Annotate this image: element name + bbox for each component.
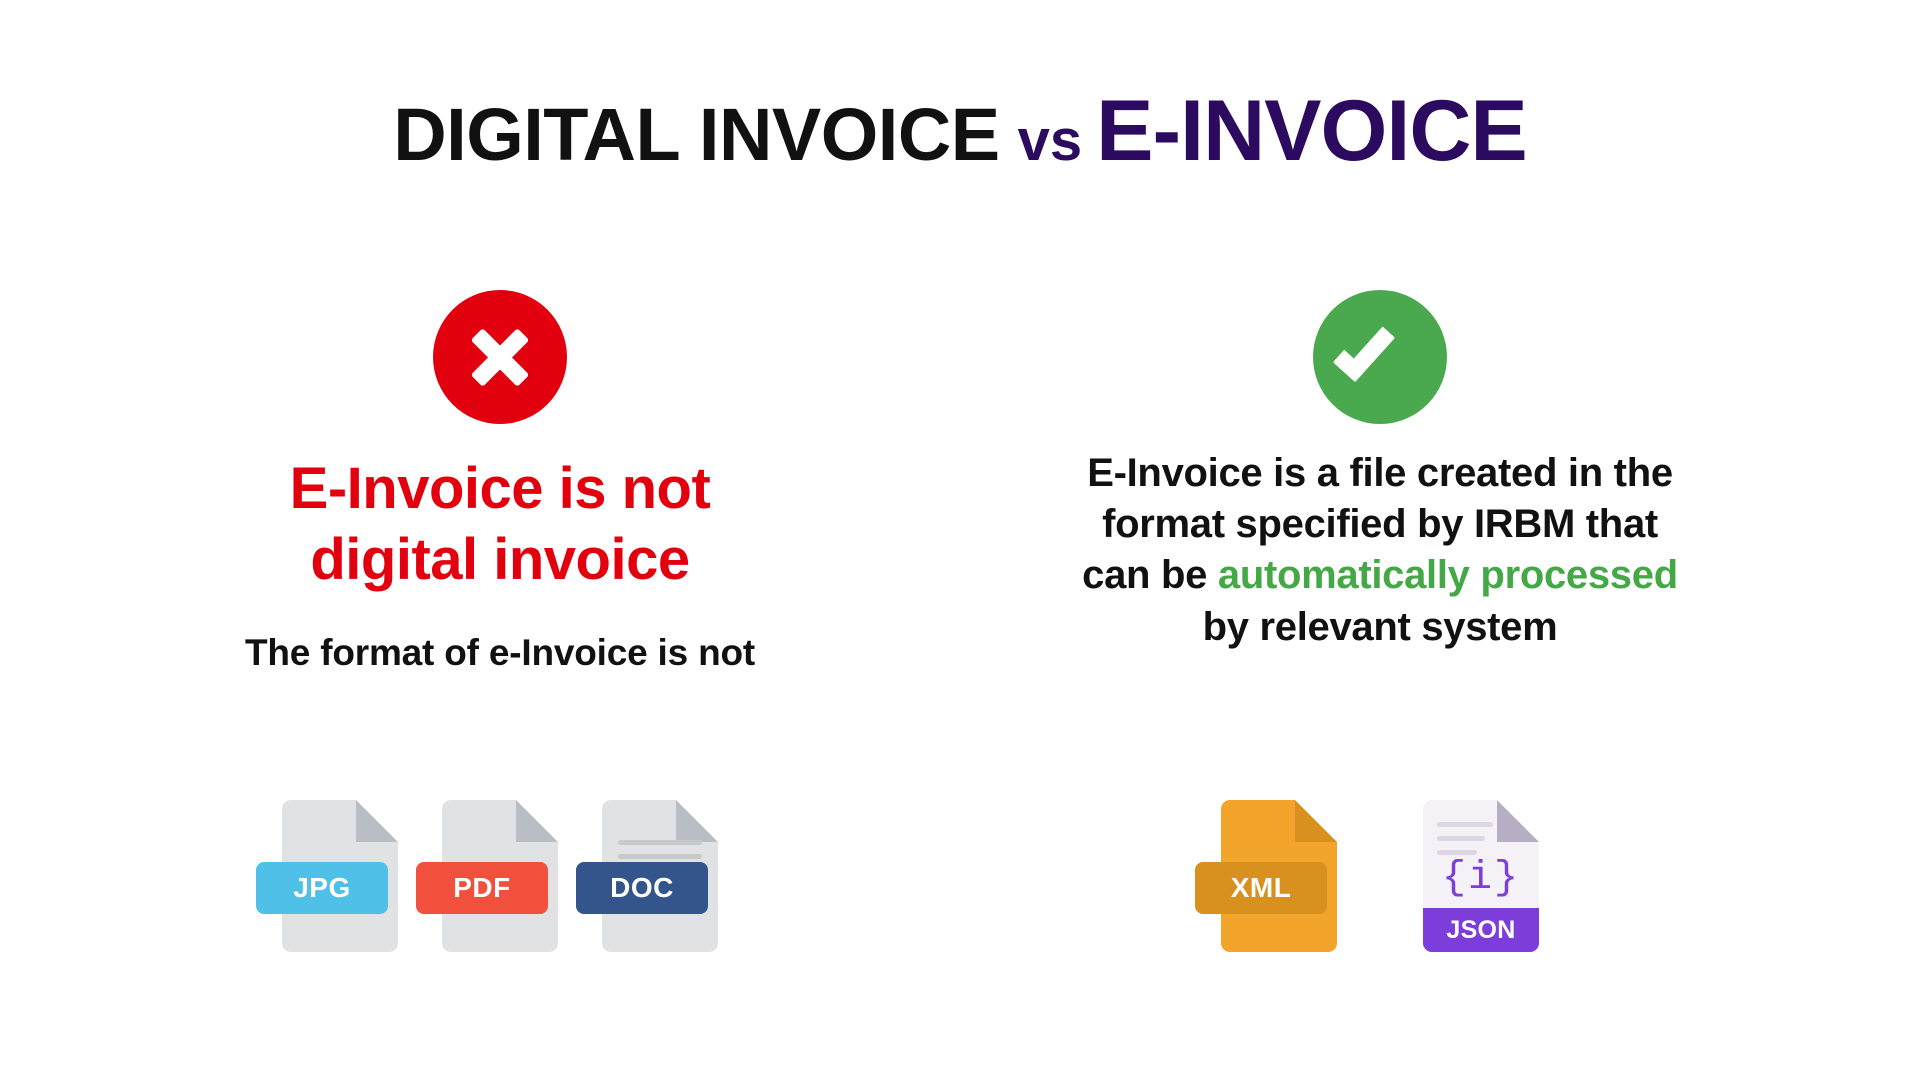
page-title: DIGITAL INVOICEvsE-INVOICE xyxy=(0,88,1920,174)
file-fold-corner xyxy=(1497,800,1539,842)
file-rule xyxy=(1437,836,1485,841)
file-type-chip: DOC xyxy=(576,862,708,914)
left-subline: The format of e-Invoice is not xyxy=(90,632,910,674)
title-vs-text: vs xyxy=(1018,108,1083,173)
right-paragraph-line3-pre: can be xyxy=(1082,553,1218,597)
file-rule xyxy=(618,840,702,845)
right-paragraph: E-Invoice is a file created in the forma… xyxy=(950,448,1810,653)
file-rule xyxy=(618,854,702,859)
left-badge-wrap xyxy=(90,290,910,430)
title-accent-text: E-INVOICE xyxy=(1096,83,1527,179)
left-file-icon-row: JPG PDF DOC xyxy=(90,800,910,952)
file-type-chip: JSON xyxy=(1423,908,1539,952)
slide-canvas: DIGITAL INVOICEvsE-INVOICE E-Invoice is … xyxy=(0,0,1920,1080)
right-file-icon-row: XML {i} JSON xyxy=(950,800,1810,952)
file-type-chip: PDF xyxy=(416,862,548,914)
file-fold-corner xyxy=(676,800,718,842)
file-rule xyxy=(1437,822,1493,827)
file-fold-corner xyxy=(516,800,558,842)
circle-check-icon xyxy=(1313,290,1447,424)
file-rule xyxy=(1437,850,1477,855)
title-main-text: DIGITAL INVOICE xyxy=(393,93,999,176)
json-brace-glyph: {i} xyxy=(1423,856,1539,901)
right-paragraph-line2: format specified by IRBM that xyxy=(950,499,1810,550)
file-type-chip: XML xyxy=(1195,862,1327,914)
circle-cross-icon xyxy=(433,290,567,424)
left-column: E-Invoice is not digital invoice The for… xyxy=(90,290,910,674)
left-headline-line2: digital invoice xyxy=(90,525,910,596)
file-pdf-icon: PDF xyxy=(442,800,558,952)
left-headline-line1: E-Invoice is not xyxy=(90,454,910,525)
file-fold-corner xyxy=(1295,800,1337,842)
right-paragraph-line3: can be automatically processed xyxy=(950,550,1810,601)
file-fold-corner xyxy=(356,800,398,842)
left-headline: E-Invoice is not digital invoice xyxy=(90,454,910,596)
file-json-icon: {i} JSON xyxy=(1423,800,1539,952)
right-paragraph-line4: by relevant system xyxy=(950,602,1810,653)
file-jpg-icon: JPG xyxy=(282,800,398,952)
right-column: E-Invoice is a file created in the forma… xyxy=(950,290,1810,653)
file-xml-icon: XML xyxy=(1221,800,1337,952)
file-doc-icon: DOC xyxy=(602,800,718,952)
right-badge-wrap xyxy=(950,290,1810,430)
right-paragraph-line1: E-Invoice is a file created in the xyxy=(950,448,1810,499)
file-type-chip: JPG xyxy=(256,862,388,914)
right-paragraph-highlight: automatically processed xyxy=(1218,553,1678,597)
